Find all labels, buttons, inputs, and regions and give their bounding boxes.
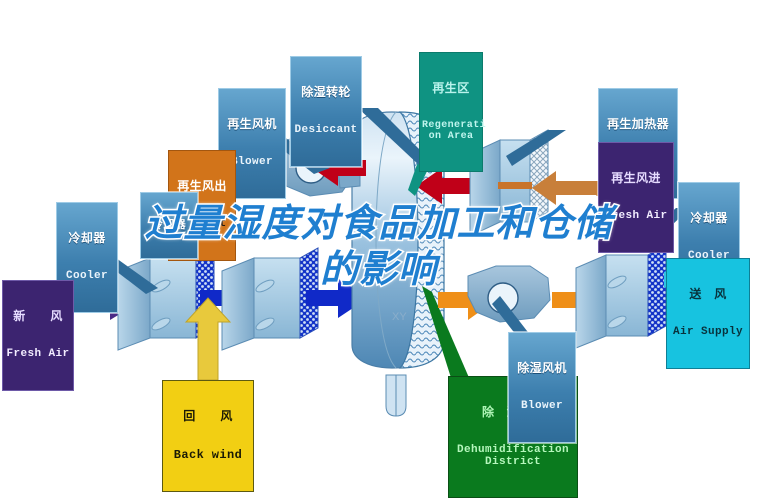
label-en: Blower (511, 401, 573, 413)
label-cn: 再生风机 (221, 118, 283, 131)
page-title: 过量湿度对食品加工和仓储 的影响 (0, 200, 757, 292)
label-en: Dehumidification District (451, 445, 575, 469)
diagram-canvas: XY (0, 0, 757, 488)
label-cn: 再生风出 (171, 180, 233, 193)
label-cn: 除湿风机 (511, 362, 573, 375)
label-en: Air Supply (669, 327, 747, 339)
label-back-wind[interactable]: 回 风 Back wind (162, 380, 254, 492)
label-dehumidification-blower[interactable]: 除湿风机 Blower (508, 332, 576, 443)
page-title-line-1: 过量湿度对食品加工和仓储 (144, 201, 612, 245)
label-cn: 回 风 (165, 410, 251, 423)
label-regeneration-area[interactable]: 再生区 Regenerati on Area (419, 52, 483, 172)
label-fresh-air-intake[interactable]: 新 风 Fresh Air (2, 280, 74, 391)
svg-text:XY: XY (392, 311, 407, 323)
label-cn: 再生风进 (601, 172, 671, 185)
label-cn: 再生区 (422, 82, 480, 95)
page-title-line-2: 的影响 (0, 246, 757, 292)
label-en: Desiccant (293, 125, 359, 137)
label-en: Regenerati on Area (422, 121, 480, 143)
label-cn: 再生加热器 (601, 118, 675, 131)
label-desiccant-wheel[interactable]: 除湿转轮 Desiccant (290, 56, 362, 167)
label-en: Fresh Air (5, 349, 71, 361)
label-en: Back wind (165, 449, 251, 462)
label-cn: 除湿转轮 (293, 86, 359, 99)
label-cn: 新 风 (5, 310, 71, 323)
